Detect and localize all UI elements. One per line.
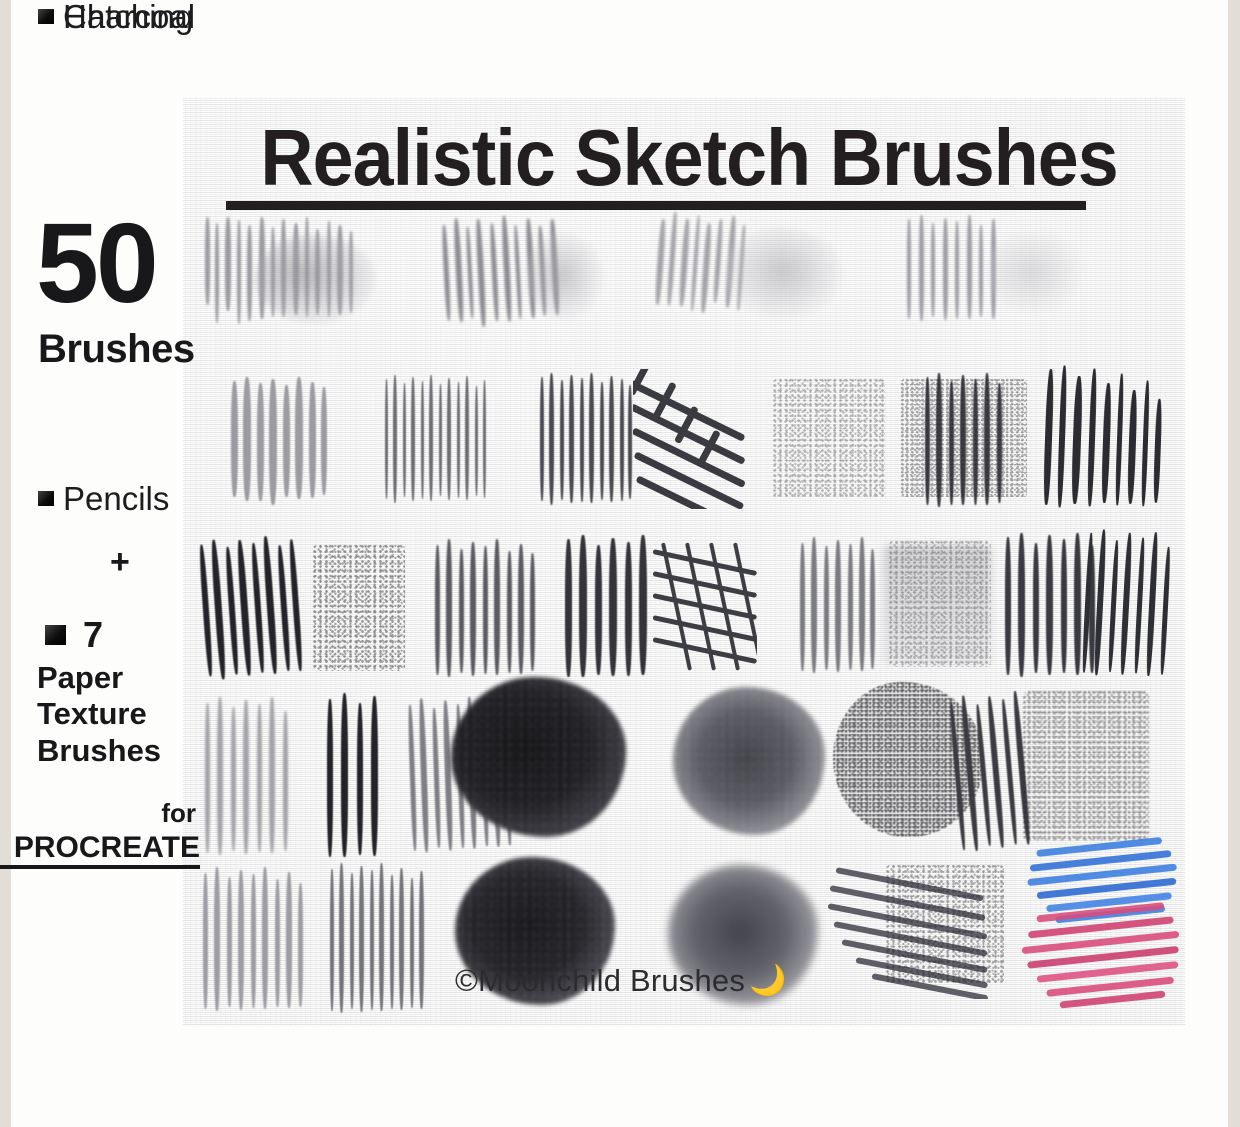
square-bullet-icon xyxy=(45,625,66,645)
brush-swatch-r4c4-dark-blob xyxy=(451,677,626,837)
brush-swatch-r2c3 xyxy=(538,373,638,509)
poster-title-block: Realistic Sketch Brushes xyxy=(226,121,1086,210)
brush-swatch-r1c1 xyxy=(201,217,371,327)
page-edge-strip-right xyxy=(1228,0,1240,1127)
info-panel: 50 Brushes Pencils Charcoal Hatching + 7… xyxy=(0,0,206,1127)
paper-canvas xyxy=(183,97,1185,1026)
brush-swatch-r1c4 xyxy=(901,215,1091,327)
brush-count-label: Brushes xyxy=(38,329,195,369)
brush-swatch-r3c12-scribble xyxy=(1083,531,1179,681)
brush-swatch-r5c1 xyxy=(201,867,311,1017)
brush-swatch-r3c2-grain xyxy=(313,545,405,671)
feature-label: Pencils xyxy=(63,482,169,515)
copyright-text: ©Moonchild Brushes xyxy=(455,963,745,999)
crescent-moon-icon: 🌙 xyxy=(749,966,787,996)
extra-count-number: 7 xyxy=(83,617,103,653)
brush-swatch-r3c3 xyxy=(433,539,541,681)
brush-swatch-r1c3 xyxy=(653,217,843,325)
brush-swatch-r3c6 xyxy=(798,537,880,677)
feature-label: Hatching xyxy=(63,0,193,33)
brush-swatch-r2c7-dotted xyxy=(901,379,1027,497)
brush-swatch-r2c5-stipple xyxy=(773,379,885,499)
brush-count-number: 50 xyxy=(36,207,156,320)
extra-label-line-3: Brushes xyxy=(37,733,161,769)
brush-swatch-r4c1 xyxy=(203,697,299,861)
square-bullet-icon xyxy=(38,491,54,506)
page-title: Realistic Sketch Brushes xyxy=(260,121,1051,195)
brush-swatch-r2c8-bold xyxy=(1043,367,1169,513)
brush-swatch-r3-woven-field xyxy=(889,541,991,667)
extra-label-line-1: Paper xyxy=(37,660,161,696)
copyright-signature: ©Moonchild Brushes 🌙 xyxy=(455,963,787,999)
brush-swatch-r5c5-diagonal xyxy=(828,859,1008,999)
brush-swatch-r4c8-soft-grain xyxy=(1023,691,1149,841)
square-bullet-icon xyxy=(38,9,54,24)
platform-label: PROCREATE xyxy=(0,833,200,869)
feature-item-hatching: Hatching xyxy=(38,0,193,33)
brush-swatch-r3c1 xyxy=(201,537,311,681)
extra-label-block: Paper Texture Brushes xyxy=(37,660,161,769)
brush-swatch-r2c2 xyxy=(383,375,493,507)
brush-swatch-r2c4-zigzag xyxy=(633,369,753,509)
brush-swatch-r4c5-mid-blob xyxy=(673,687,825,835)
brush-swatch-r3c4 xyxy=(563,535,659,681)
for-label: for xyxy=(0,800,196,826)
brush-swatch-r5c2 xyxy=(328,863,438,1017)
plus-separator: + xyxy=(110,545,130,579)
brush-swatch-r5c7-pink xyxy=(1006,896,1185,1018)
brush-swatch-r4c2 xyxy=(323,693,393,863)
extra-label-line-2: Texture xyxy=(37,696,161,732)
brush-swatch-r3c5-crosshatch xyxy=(653,537,757,679)
feature-item-pencils: Pencils xyxy=(38,482,169,515)
brush-swatch-r2c1 xyxy=(229,377,339,507)
brush-swatch-r1c2 xyxy=(438,215,598,331)
extra-count-row: 7 xyxy=(45,617,103,653)
poster-root: Realistic Sketch Brushes 50 Brushes Penc… xyxy=(0,0,1240,1127)
